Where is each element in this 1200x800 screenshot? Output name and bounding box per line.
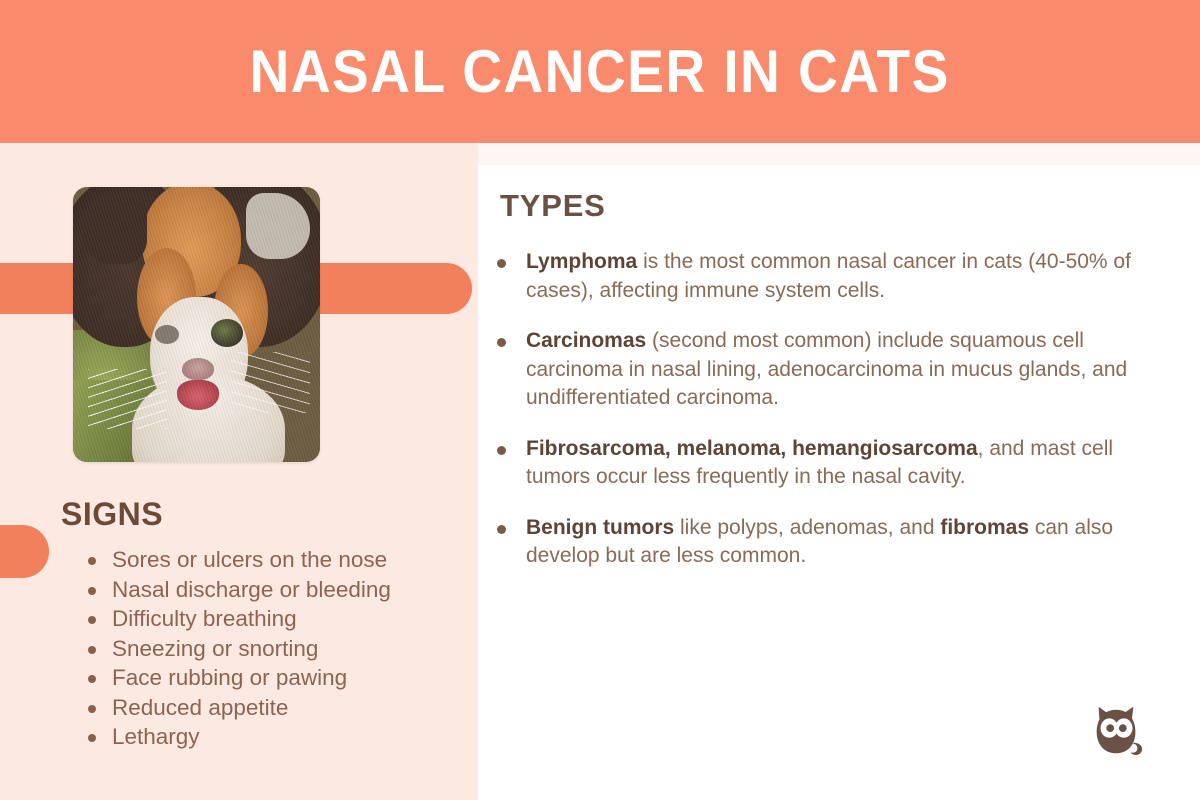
photo-eye-right xyxy=(211,319,243,347)
type-description-mid: like polyps, adenomas, and xyxy=(674,516,940,539)
signs-list: Sores or ulcers on the nose Nasal discha… xyxy=(80,545,470,752)
cat-photo xyxy=(73,187,320,462)
photo-whiskers-right xyxy=(231,352,310,413)
photo-eye-left xyxy=(155,325,180,344)
list-item: Benign tumors like polyps, adenomas, and… xyxy=(490,514,1145,571)
list-item: Sores or ulcers on the nose xyxy=(80,545,470,575)
type-term: Benign tumors xyxy=(526,516,674,539)
list-item: Face rubbing or pawing xyxy=(80,663,470,693)
page-header: NASAL CANCER IN CATS xyxy=(0,0,1200,143)
cat-logo-icon xyxy=(1086,700,1148,762)
photo-whiskers-left xyxy=(88,369,167,430)
list-item: Difficulty breathing xyxy=(80,604,470,634)
types-heading: TYPES xyxy=(500,190,606,221)
photo-nose-sore xyxy=(177,380,219,410)
list-item: Sneezing or snorting xyxy=(80,634,470,664)
signs-heading: SIGNS xyxy=(61,498,163,530)
list-item: Fibrosarcoma, melanoma, hemangiosarcoma,… xyxy=(490,435,1145,492)
types-list: Lymphoma is the most common nasal cancer… xyxy=(490,248,1145,571)
type-term: Fibrosarcoma, melanoma, hemangiosarcoma xyxy=(526,437,978,460)
list-item: Lethargy xyxy=(80,722,470,752)
list-item: Reduced appetite xyxy=(80,693,470,723)
photo-ear-left xyxy=(83,198,147,264)
right-panel-top-tint xyxy=(478,143,1200,165)
list-item: Lymphoma is the most common nasal cancer… xyxy=(490,248,1145,305)
type-term: Carcinomas xyxy=(526,329,646,352)
type-term-secondary: fibromas xyxy=(940,516,1029,539)
list-item: Nasal discharge or bleeding xyxy=(80,575,470,605)
list-item: Carcinomas (second most common) include … xyxy=(490,327,1145,413)
type-term: Lymphoma xyxy=(526,250,637,273)
page-title: NASAL CANCER IN CATS xyxy=(250,42,950,102)
photo-nose xyxy=(182,358,214,380)
